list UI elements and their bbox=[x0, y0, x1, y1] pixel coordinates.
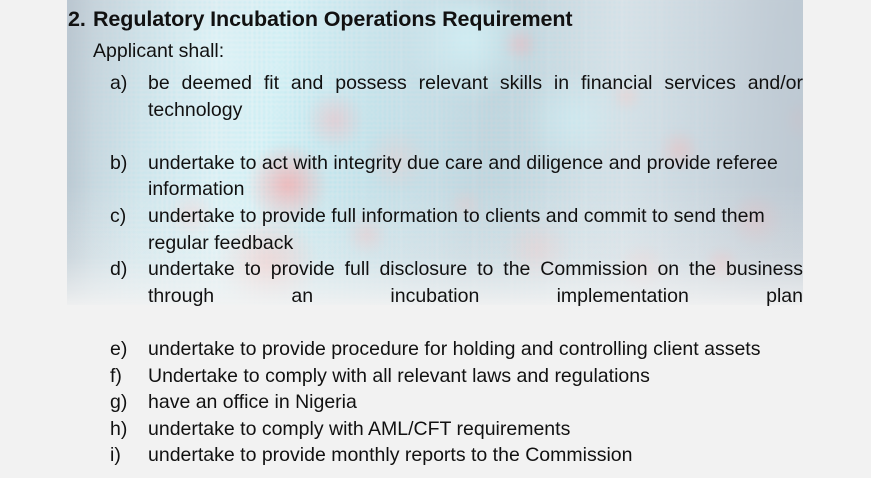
requirement-text: have an office in Nigeria bbox=[148, 389, 803, 416]
list-marker: e) bbox=[110, 336, 142, 363]
requirement-item: c)undertake to provide full information … bbox=[0, 203, 871, 256]
list-marker: i) bbox=[110, 442, 142, 469]
requirement-text: undertake to comply with AML/CFT require… bbox=[148, 416, 803, 443]
list-marker: c) bbox=[110, 203, 142, 230]
list-marker: d) bbox=[110, 256, 142, 283]
requirement-item: g)have an office in Nigeria bbox=[0, 389, 871, 416]
requirement-item: d)undertake to provide full disclosure t… bbox=[0, 256, 871, 336]
requirement-text: undertake to act with integrity due care… bbox=[148, 150, 803, 203]
requirement-item: e)undertake to provide procedure for hol… bbox=[0, 336, 871, 363]
requirement-text: be deemed fit and possess relevant skill… bbox=[148, 70, 803, 150]
requirement-text: undertake to provide full information to… bbox=[148, 203, 803, 256]
slide-content: 2.Regulatory Incubation Operations Requi… bbox=[0, 0, 871, 478]
requirement-item: i)undertake to provide monthly reports t… bbox=[0, 442, 871, 469]
list-marker: h) bbox=[110, 416, 142, 443]
list-marker: g) bbox=[110, 389, 142, 416]
requirement-item: a)be deemed fit and possess relevant ski… bbox=[0, 70, 871, 150]
requirement-item: b)undertake to act with integrity due ca… bbox=[0, 150, 871, 203]
slide-canvas: 2.Regulatory Incubation Operations Requi… bbox=[0, 0, 871, 478]
intro-line: Applicant shall: bbox=[93, 40, 224, 63]
requirement-text: undertake to provide full disclosure to … bbox=[148, 256, 803, 336]
requirement-text: undertake to provide monthly reports to … bbox=[148, 442, 803, 469]
requirement-item: f)Undertake to comply with all relevant … bbox=[0, 363, 871, 390]
requirement-item: h)undertake to comply with AML/CFT requi… bbox=[0, 416, 871, 443]
section-title: Regulatory Incubation Operations Require… bbox=[93, 7, 572, 31]
requirements-list: a)be deemed fit and possess relevant ski… bbox=[0, 70, 871, 469]
list-marker: a) bbox=[110, 70, 142, 97]
section-heading: 2.Regulatory Incubation Operations Requi… bbox=[68, 7, 572, 32]
requirement-text: Undertake to comply with all relevant la… bbox=[148, 363, 803, 390]
requirement-text: undertake to provide procedure for holdi… bbox=[148, 336, 803, 363]
section-number: 2. bbox=[68, 7, 93, 32]
list-marker: f) bbox=[110, 363, 142, 390]
list-marker: b) bbox=[110, 150, 142, 177]
